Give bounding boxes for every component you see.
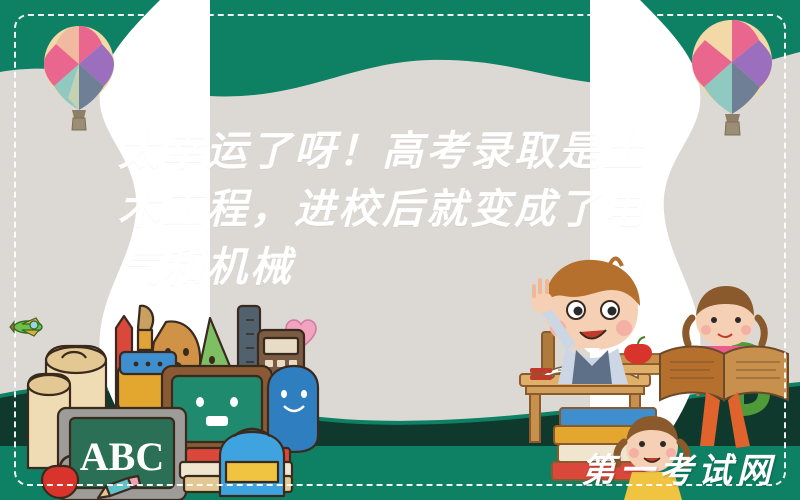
airplane-icon [6, 312, 50, 342]
promo-banner: 太幸运了呀！高考录取是土木工程，进校后就变成了电气和机械 [0, 0, 800, 500]
school-supplies-icon: ABC [20, 290, 320, 500]
hot-air-balloon-icon [684, 16, 780, 140]
chalkboard-label: ABC [80, 434, 164, 479]
hot-air-balloon-icon [36, 22, 122, 134]
site-watermark: 第一考试网 [581, 443, 776, 492]
headline-text: 太幸运了呀！高考录取是土木工程，进校后就变成了电气和机械 [118, 122, 678, 296]
